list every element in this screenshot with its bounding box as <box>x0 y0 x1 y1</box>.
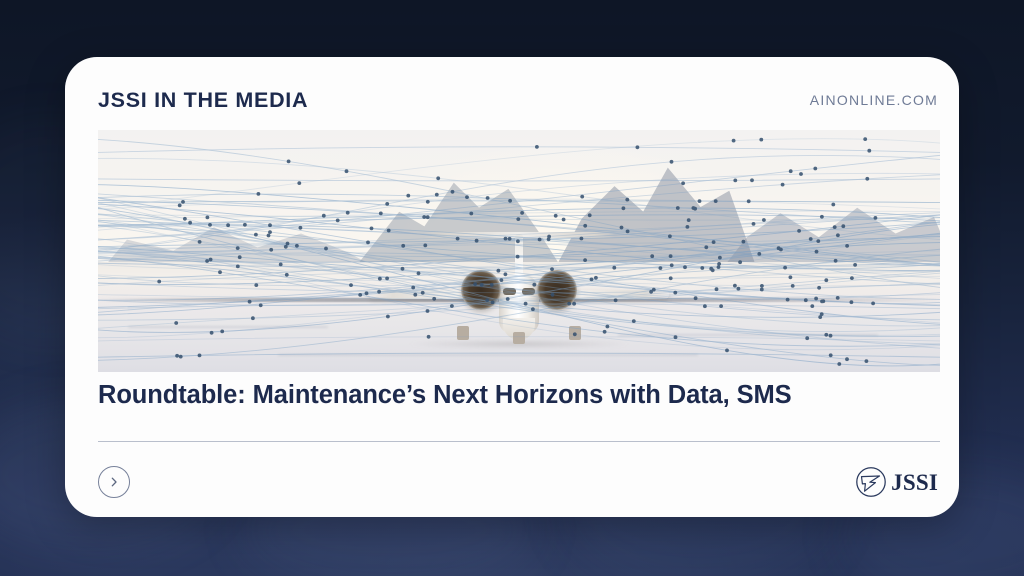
brand-wordmark: JSSI <box>891 471 938 494</box>
card-kicker: JSSI IN THE MEDIA <box>98 88 308 113</box>
card-footer: JSSI <box>98 457 940 507</box>
jssi-bird-circle-icon <box>852 462 892 502</box>
divider <box>98 441 940 442</box>
card-header: JSSI IN THE MEDIA AINONLINE.COM <box>98 79 940 121</box>
media-feature-card: JSSI IN THE MEDIA AINONLINE.COM <box>65 57 959 517</box>
next-button[interactable] <box>98 466 130 498</box>
chevron-right-icon <box>108 476 120 488</box>
hero-image <box>98 130 940 372</box>
page-title: Roundtable: Maintenance’s Next Horizons … <box>98 381 958 410</box>
card-source-label: AINONLINE.COM <box>810 92 940 108</box>
brand-logo: JSSI <box>852 462 940 502</box>
data-network-overlay <box>98 130 940 372</box>
